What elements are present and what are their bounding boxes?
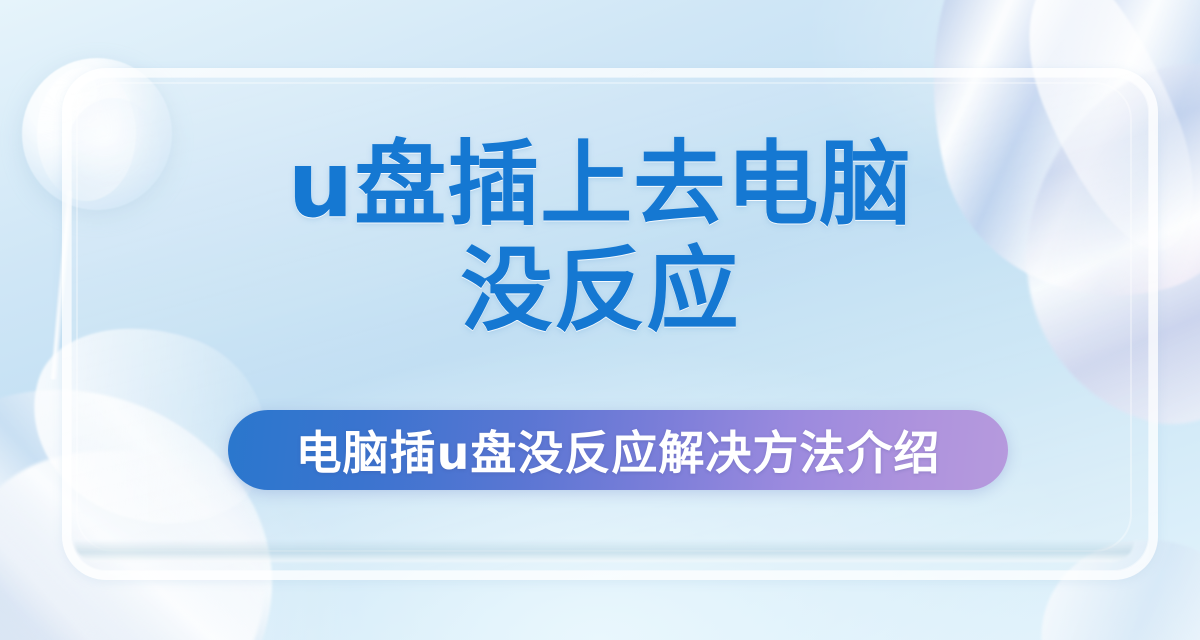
subtitle-badge: 电脑插u盘没反应解决方法介绍 — [228, 410, 1008, 490]
title-line-1: u盘插上去电脑 — [0, 132, 1200, 238]
poster-content: u盘插上去电脑 没反应 电脑插u盘没反应解决方法介绍 — [0, 0, 1200, 640]
poster-canvas: u盘插上去电脑 没反应 电脑插u盘没反应解决方法介绍 — [0, 0, 1200, 640]
page-title: u盘插上去电脑 没反应 — [0, 132, 1200, 344]
subtitle-text: 电脑插u盘没反应解决方法介绍 — [296, 417, 941, 483]
title-line-2: 没反应 — [0, 238, 1200, 344]
